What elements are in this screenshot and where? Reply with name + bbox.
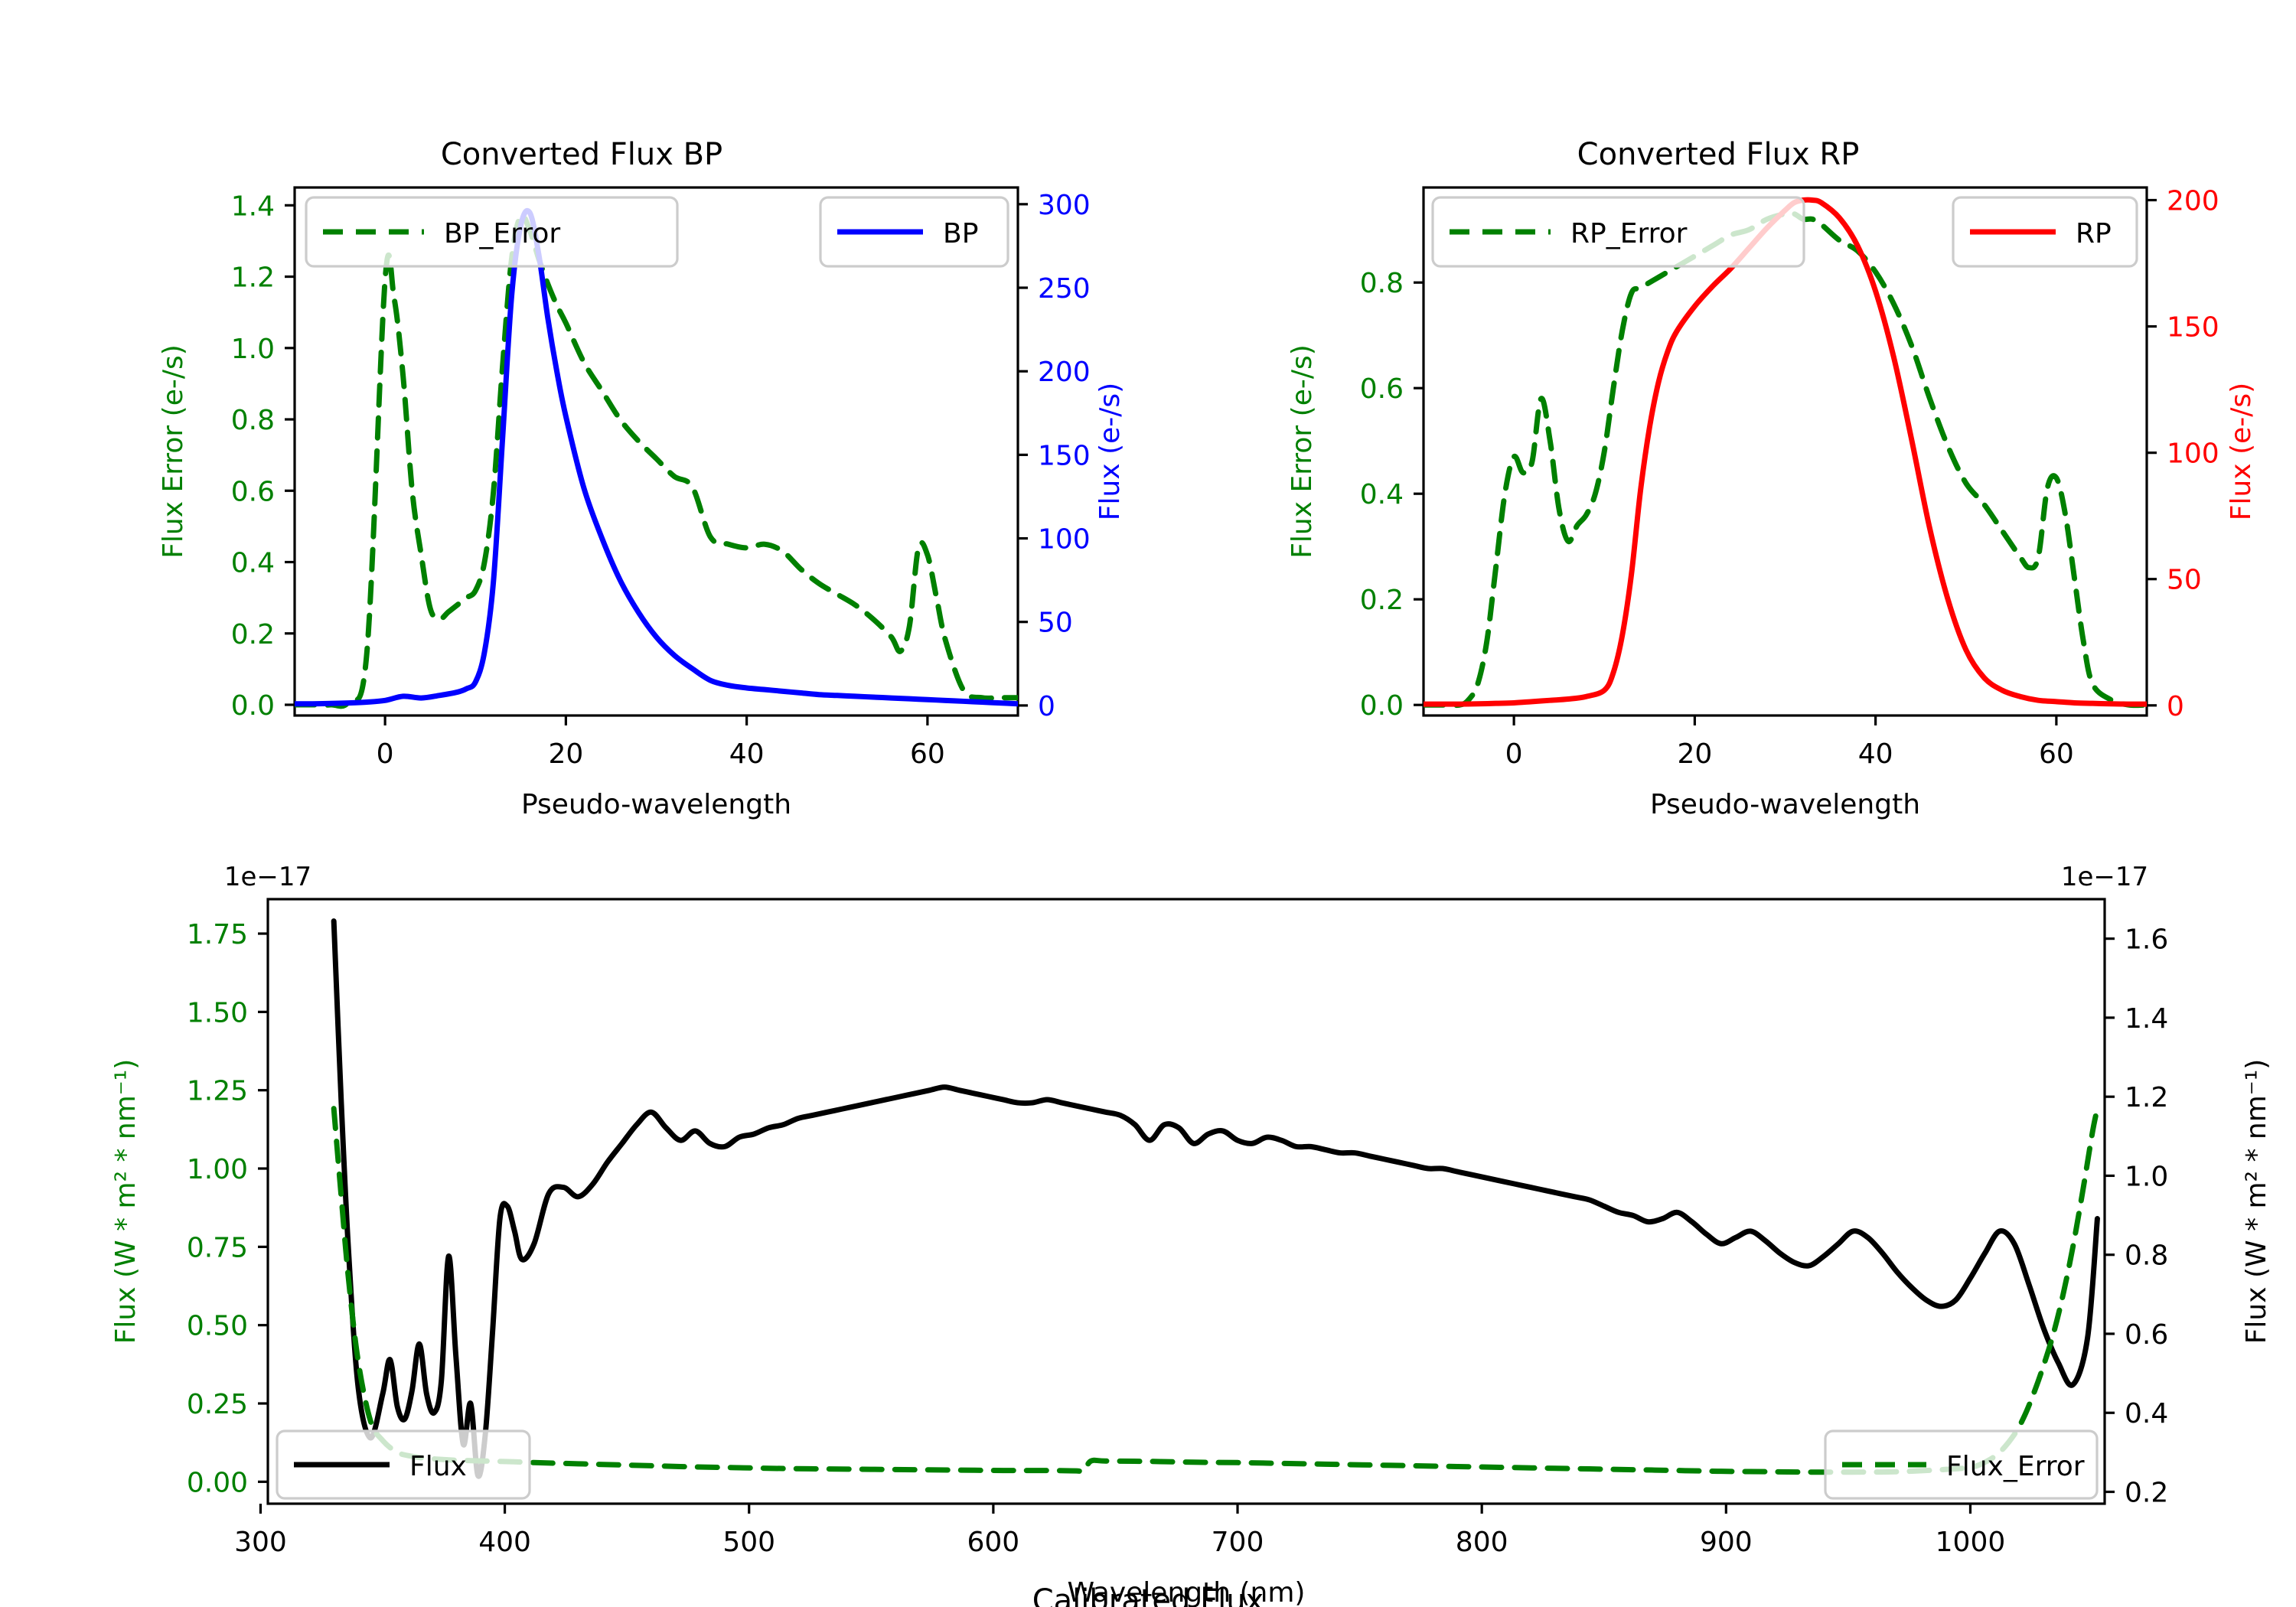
y-tick-label-left: 0.25 xyxy=(187,1389,248,1420)
x-tick-label: 300 xyxy=(234,1527,287,1558)
x-axis-label: Wavelength (nm) xyxy=(1068,1577,1306,1607)
x-axis-label: Pseudo-wavelength xyxy=(521,789,791,820)
y-tick-label-left: 1.4 xyxy=(231,191,275,222)
y-axis-label-left: Flux (W * m² * nm⁻¹) xyxy=(110,1059,142,1345)
y-tick-label-right: 1.4 xyxy=(2125,1003,2168,1035)
y-tick-label-right: 0.8 xyxy=(2125,1240,2168,1272)
legend-label-rp-error: RP_Error xyxy=(1570,218,1688,249)
y-tick-label-right: 0.6 xyxy=(2125,1319,2168,1351)
y-tick-label-left: 1.00 xyxy=(187,1154,248,1185)
y-tick-label-right: 300 xyxy=(1038,190,1091,221)
y-tick-label-right: 100 xyxy=(2167,438,2219,470)
y-tick-label-right: 50 xyxy=(2167,565,2202,596)
y-tick-label-left: 0.8 xyxy=(231,405,275,436)
y-axis-label-right: Flux (e-/s) xyxy=(1094,383,1126,520)
y-tick-label-left: 1.50 xyxy=(187,997,248,1028)
legend-bp-error[interactable]: BP_Error xyxy=(306,197,677,266)
chart-calibrated-flux: Calibrated Flux 300400500600700800900100… xyxy=(0,826,2296,1607)
x-tick-label: 40 xyxy=(729,738,765,770)
legend-rp[interactable]: RP xyxy=(1953,197,2137,266)
series-line-bp_error xyxy=(295,215,1018,706)
legend-flux-error[interactable]: Flux_Error xyxy=(1825,1431,2097,1498)
y-tick-label-right: 0.4 xyxy=(2125,1398,2168,1429)
chart-converted-flux-rp: Converted Flux RP 0204060Pseudo-waveleng… xyxy=(1148,0,2296,826)
y-axis-label-right: Flux (e-/s) xyxy=(2226,383,2257,520)
legend-label-bp: BP xyxy=(943,218,978,249)
chart-title-rp: Converted Flux RP xyxy=(1577,137,1860,172)
x-tick-label: 20 xyxy=(1677,738,1712,770)
panel-calibrated-flux: Calibrated Flux 300400500600700800900100… xyxy=(0,826,2296,1607)
y-tick-label-left: 0.8 xyxy=(1360,268,1404,299)
y-tick-label-left: 1.75 xyxy=(187,919,248,950)
series-line-flux xyxy=(334,921,2097,1477)
x-tick-label: 0 xyxy=(1505,738,1523,770)
y-tick-label-left: 0.0 xyxy=(1360,690,1404,722)
x-tick-label: 40 xyxy=(1858,738,1893,770)
y-axis-offset-right: 1e−17 xyxy=(2061,862,2148,892)
y-tick-label-right: 0 xyxy=(2167,691,2184,722)
y-tick-label-right: 1.0 xyxy=(2125,1161,2168,1192)
panel-converted-flux-bp: Converted Flux BP 0204060Pseudo-waveleng… xyxy=(0,0,1148,826)
series-line-rp_error xyxy=(1424,214,2147,706)
x-tick-label: 60 xyxy=(2039,738,2074,770)
panel-converted-flux-rp: Converted Flux RP 0204060Pseudo-waveleng… xyxy=(1148,0,2296,826)
legend-label-flux-error: Flux_Error xyxy=(1946,1451,2085,1482)
y-tick-label-right: 1.2 xyxy=(2125,1082,2168,1113)
x-tick-label: 400 xyxy=(478,1527,531,1558)
x-tick-label: 600 xyxy=(967,1527,1020,1558)
legend-bp[interactable]: BP xyxy=(820,197,1008,266)
y-tick-label-left: 0.0 xyxy=(231,690,275,722)
chart-title-bp: Converted Flux BP xyxy=(441,137,722,172)
x-tick-label: 60 xyxy=(910,738,945,770)
y-tick-label-left: 0.2 xyxy=(1360,585,1404,616)
y-tick-label-left: 0.2 xyxy=(231,619,275,650)
x-tick-label: 900 xyxy=(1700,1527,1753,1558)
x-axis-label: Pseudo-wavelength xyxy=(1650,789,1920,820)
series-line-flux_error xyxy=(334,1109,2097,1472)
y-tick-label-right: 200 xyxy=(2167,186,2219,217)
y-tick-label-left: 0.6 xyxy=(231,476,275,507)
legend-label-flux: Flux xyxy=(409,1451,467,1482)
chart-converted-flux-bp: Converted Flux BP 0204060Pseudo-waveleng… xyxy=(0,0,1148,826)
x-tick-label: 1000 xyxy=(1936,1527,2006,1558)
y-tick-label-left: 1.25 xyxy=(187,1076,248,1107)
y-tick-label-left: 1.2 xyxy=(231,262,275,294)
y-tick-label-right: 50 xyxy=(1038,608,1073,639)
y-axis-label-left: Flux Error (e-/s) xyxy=(158,344,189,559)
legend-rp-error[interactable]: RP_Error xyxy=(1433,197,1804,266)
x-tick-label: 700 xyxy=(1212,1527,1264,1558)
y-tick-label-left: 0.00 xyxy=(187,1467,248,1498)
legend-label-bp-error: BP_Error xyxy=(444,218,560,249)
x-tick-label: 500 xyxy=(722,1527,775,1558)
y-tick-label-left: 0.50 xyxy=(187,1311,248,1342)
y-tick-label-right: 200 xyxy=(1038,357,1091,388)
y-tick-label-right: 1.6 xyxy=(2125,924,2168,956)
y-tick-label-left: 0.75 xyxy=(187,1232,248,1263)
legend-label-rp: RP xyxy=(2076,218,2112,249)
x-tick-label: 800 xyxy=(1456,1527,1508,1558)
y-axis-label-right: Flux (W * m² * nm⁻¹) xyxy=(2241,1059,2272,1345)
legend-flux[interactable]: Flux xyxy=(277,1431,530,1498)
y-tick-label-left: 1.0 xyxy=(231,334,275,365)
y-tick-label-left: 0.6 xyxy=(1360,373,1404,405)
figure-canvas: Converted Flux BP 0204060Pseudo-waveleng… xyxy=(0,0,2296,1607)
y-tick-label-right: 0.2 xyxy=(2125,1478,2168,1509)
x-tick-label: 20 xyxy=(548,738,583,770)
y-tick-label-right: 100 xyxy=(1038,524,1091,556)
x-tick-label: 0 xyxy=(377,738,394,770)
y-tick-label-right: 0 xyxy=(1038,691,1055,722)
y-axis-offset-left: 1e−17 xyxy=(224,862,311,892)
y-tick-label-left: 0.4 xyxy=(231,548,275,579)
y-tick-label-right: 150 xyxy=(1038,440,1091,471)
y-axis-label-left: Flux Error (e-/s) xyxy=(1287,344,1318,559)
y-tick-label-left: 0.4 xyxy=(1360,479,1404,510)
y-tick-label-right: 150 xyxy=(2167,312,2219,344)
y-tick-label-right: 250 xyxy=(1038,273,1091,305)
